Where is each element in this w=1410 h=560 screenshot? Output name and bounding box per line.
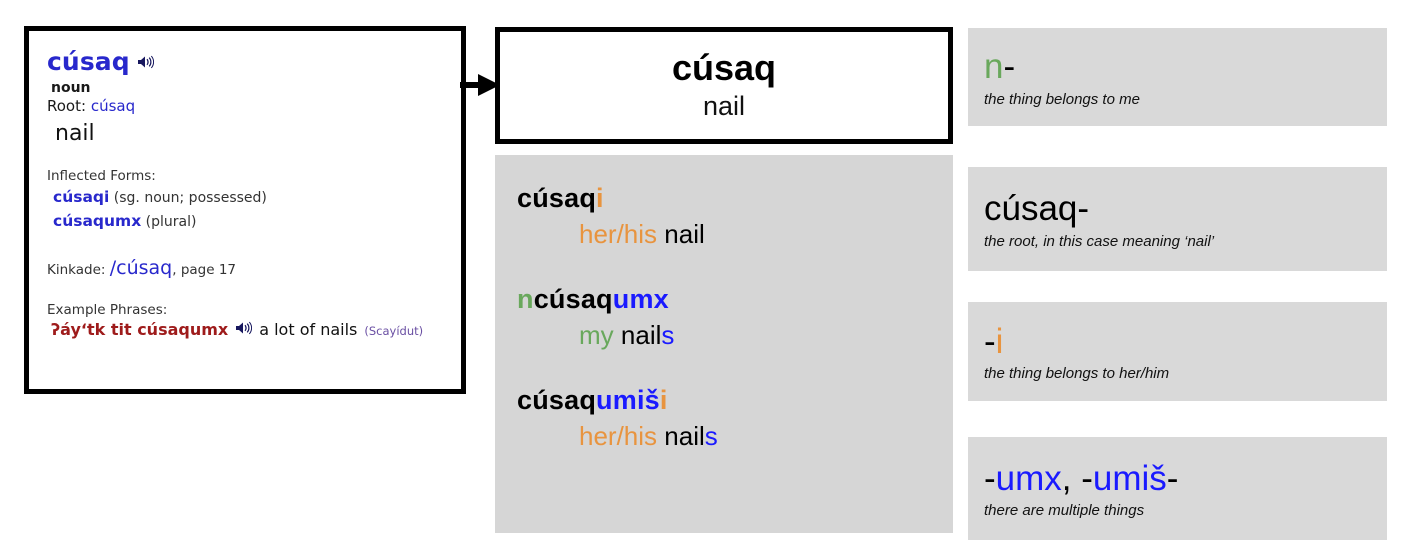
inflected-form: cúsaqi (53, 188, 109, 206)
example-item: ncúsaqumx my nails (517, 284, 953, 351)
example-meaning: her/his nail (579, 220, 953, 250)
part-of-speech: noun (51, 80, 445, 96)
kinkade-citation[interactable]: /cúsaq (110, 257, 173, 279)
root-line: Root: cúsaq (47, 97, 445, 115)
legend-description: the thing belongs to her/him (984, 365, 1387, 382)
focus-word-box: cúsaq nail (495, 27, 953, 144)
example-item: cúsaqi her/his nail (517, 183, 953, 250)
morph-segment-blue: s (705, 421, 718, 451)
kinkade-page: , page 17 (172, 262, 236, 278)
example-source: (Scayídut) (364, 324, 423, 338)
inflected-form-row[interactable]: cúsaqumx (plural) (53, 210, 445, 232)
morph-segment-black: cúsaq (517, 183, 596, 213)
morph-segment-orange: i (596, 183, 604, 213)
example-meaning: my nails (579, 321, 953, 351)
dictionary-entry-card: cúsaq noun Root: cúsaq nail Inflected Fo… (24, 26, 466, 394)
focus-word: cúsaq (672, 49, 776, 87)
morph-segment-blue: umiš (1093, 459, 1167, 498)
morph-segment-orange: i (660, 385, 668, 415)
example-meaning: her/his nails (579, 422, 953, 452)
example-item: cúsaqumiši her/his nails (517, 385, 953, 452)
speaker-icon[interactable] (235, 321, 252, 335)
morph-segment-black: - (984, 322, 996, 361)
morph-segment-black: - (984, 459, 996, 498)
inflected-form-note: (plural) (146, 214, 197, 230)
legend-description: the thing belongs to me (984, 91, 1387, 108)
legend-morpheme: -umx, -umiš- (984, 460, 1387, 498)
headword-row: cúsaq (47, 47, 445, 76)
example-phrase-row: ʔáy‘tk tit cúsaqumx a lot of nails (Scay… (51, 320, 445, 339)
legend-morpheme: cúsaq- (984, 190, 1387, 228)
legend-panel-prefix-n: n- the thing belongs to me (968, 28, 1387, 126)
morph-segment-black: nail (657, 219, 705, 249)
morph-segment-green: my (579, 320, 614, 350)
legend-panel-root: cúsaq- the root, in this case meaning ‘n… (968, 167, 1387, 271)
morph-segment-black: cúsaq- (984, 189, 1089, 228)
morph-segment-blue: umx (613, 284, 669, 314)
morph-segment-black: - (1003, 47, 1015, 86)
diagram-canvas: cúsaq noun Root: cúsaq nail Inflected Fo… (0, 0, 1410, 560)
examples-panel: cúsaqi her/his nail ncúsaqumx my nails c… (495, 155, 953, 533)
inflected-form: cúsaqumx (53, 212, 141, 230)
morph-segment-black: nail (657, 421, 705, 451)
morph-segment-black: cúsaq (534, 284, 613, 314)
speaker-icon[interactable] (137, 55, 154, 69)
morph-segment-blue: s (661, 320, 674, 350)
example-word: cúsaqumiši (517, 385, 953, 416)
example-phrases-label: Example Phrases: (47, 302, 445, 318)
legend-morpheme: n- (984, 48, 1387, 86)
root-value[interactable]: cúsaq (91, 97, 135, 115)
legend-panel-suffix-i: -i the thing belongs to her/him (968, 302, 1387, 401)
morph-segment-blue: umx (996, 459, 1062, 498)
example-phrase: ʔáy‘tk tit cúsaqumx (51, 320, 228, 339)
morph-segment-blue: umiš (596, 385, 660, 415)
example-translation: a lot of nails (259, 320, 357, 339)
legend-description: the root, in this case meaning ‘nail’ (984, 233, 1387, 250)
example-word: cúsaqi (517, 183, 953, 214)
morph-segment-black: - (1167, 459, 1179, 498)
gloss: nail (55, 121, 445, 146)
inflected-form-row[interactable]: cúsaqi (sg. noun; possessed) (53, 186, 445, 208)
legend-panel-plural: -umx, -umiš- there are multiple things (968, 437, 1387, 540)
root-label: Root: (47, 97, 86, 115)
inflected-form-note: (sg. noun; possessed) (114, 190, 267, 206)
morph-segment-green: n (984, 47, 1003, 86)
legend-morpheme: -i (984, 323, 1387, 361)
inflected-forms-label: Inflected Forms: (47, 168, 445, 184)
legend-description: there are multiple things (984, 502, 1387, 519)
kinkade-label: Kinkade: (47, 262, 105, 278)
kinkade-reference: Kinkade: /cúsaq, page 17 (47, 257, 445, 279)
headword: cúsaq (47, 47, 130, 76)
example-word: ncúsaqumx (517, 284, 953, 315)
morph-segment-black: cúsaq (517, 385, 596, 415)
morph-segment-black: nail (614, 320, 662, 350)
morph-segment-orange: her/his (579, 421, 657, 451)
morph-segment-black: , - (1062, 459, 1093, 498)
focus-word-gloss: nail (703, 91, 745, 122)
morph-segment-orange: i (996, 322, 1004, 361)
morph-segment-green: n (517, 284, 534, 314)
morph-segment-orange: her/his (579, 219, 657, 249)
